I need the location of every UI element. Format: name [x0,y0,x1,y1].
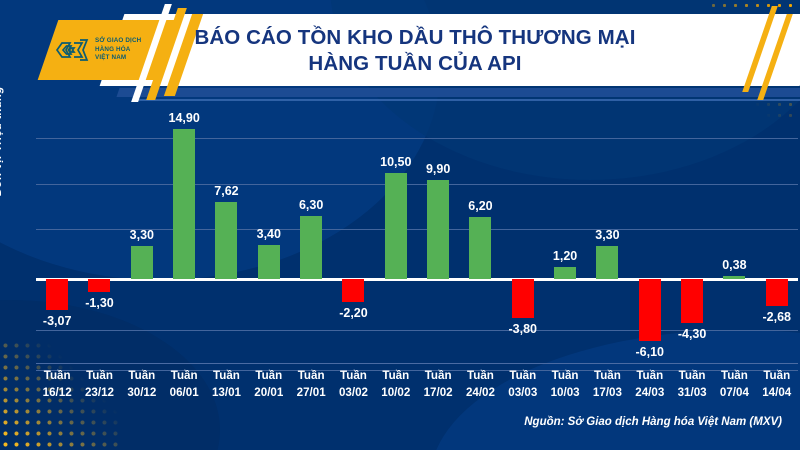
x-axis-tick: Tuần07/04 [713,368,755,412]
bar-chart: -3,07-1,303,3014,907,623,406,30-2,2010,5… [36,118,798,360]
bar-slot[interactable]: -6,10 [629,118,671,360]
bar-negative[interactable] [681,279,703,322]
bar-value-label: -6,10 [636,345,665,359]
bar-value-label: -1,30 [85,296,114,310]
bar-slot[interactable]: 9,90 [417,118,459,360]
x-axis-tick: Tuần13/01 [205,368,247,412]
bar-negative[interactable] [639,279,661,341]
bar-positive[interactable] [215,202,237,279]
x-axis-tick-date: 03/03 [502,385,544,402]
bar-positive[interactable] [173,129,195,279]
x-axis-tick-date: 03/02 [332,385,374,402]
x-axis-tick-prefix: Tuần [163,368,205,385]
infographic-root: SỞ GIAO DỊCH HÀNG HÓA VIỆT NAM BÁO CÁO T… [0,0,800,450]
bar-positive[interactable] [258,245,280,279]
bar-positive[interactable] [554,267,576,279]
source-note: Nguồn: Sở Giao dịch Hàng hóa Việt Nam (M… [524,416,782,428]
header-thin-rule [136,99,800,101]
bar-slot[interactable]: 1,20 [544,118,586,360]
bar-slot[interactable]: 14,90 [163,118,205,360]
x-axis-tick-date: 10/02 [375,385,417,402]
x-axis-tick-date: 30/12 [121,385,163,402]
bar-value-label: 6,20 [468,199,492,213]
bar-negative[interactable] [512,279,534,317]
header-banner: SỞ GIAO DỊCH HÀNG HÓA VIỆT NAM BÁO CÁO T… [0,0,800,106]
bar-value-label: 9,90 [426,162,450,176]
x-axis-tick-prefix: Tuần [205,368,247,385]
logo-text-line1: SỞ GIAO DỊCH [95,37,141,46]
x-axis-tick-prefix: Tuần [756,368,798,385]
x-axis-tick-prefix: Tuần [629,368,671,385]
bar-slot[interactable]: -2,68 [756,118,798,360]
page-title: BÁO CÁO TỒN KHO DẦU THÔ THƯƠNG MẠI HÀNG … [150,20,680,82]
x-axis-tick: Tuần16/12 [36,368,78,412]
bar-positive[interactable] [469,217,491,280]
x-axis-tick-date: 17/02 [417,385,459,402]
page-title-line1: BÁO CÁO TỒN KHO DẦU THÔ THƯƠNG MẠI [194,25,635,51]
bar-value-label: 3,30 [595,228,619,242]
bar-slot[interactable]: 3,30 [121,118,163,360]
x-axis-tick-prefix: Tuần [36,368,78,385]
bar-value-label: 1,20 [553,249,577,263]
bar-value-label: -4,30 [678,327,707,341]
y-axis-label: Đơn vị: Triệu thùng [0,86,4,196]
x-axis-tick: Tuần17/03 [586,368,628,412]
x-axis-tick-date: 14/04 [756,385,798,402]
bar-value-label: -2,20 [339,306,368,320]
bar-slot[interactable]: -1,30 [78,118,120,360]
x-axis-tick: Tuần03/03 [502,368,544,412]
x-axis-tick-date: 23/12 [78,385,120,402]
x-axis-tick-prefix: Tuần [121,368,163,385]
bar-value-label: -2,68 [762,310,791,324]
x-axis-tick-date: 24/02 [459,385,501,402]
x-axis-tick-prefix: Tuần [417,368,459,385]
x-axis-tick: Tuần06/01 [163,368,205,412]
x-axis-labels: Tuần16/12Tuần23/12Tuần30/12Tuần06/01Tuần… [36,368,798,412]
bar-slot[interactable]: 7,62 [205,118,247,360]
bar-positive[interactable] [300,216,322,280]
x-axis-tick: Tuần20/01 [248,368,290,412]
x-axis-tick: Tuần10/03 [544,368,586,412]
x-axis-tick-date: 31/03 [671,385,713,402]
bar-value-label: 3,30 [130,228,154,242]
x-axis-tick-date: 06/01 [163,385,205,402]
x-axis-tick: Tuần24/03 [629,368,671,412]
x-axis-tick: Tuần10/02 [375,368,417,412]
bar-positive[interactable] [385,173,407,279]
x-axis-tick-prefix: Tuần [290,368,332,385]
bar-negative[interactable] [342,279,364,301]
bar-value-label: 0,38 [722,258,746,272]
bar-slot[interactable]: -4,30 [671,118,713,360]
x-axis-tick-date: 10/03 [544,385,586,402]
x-axis-tick: Tuần31/03 [671,368,713,412]
bar-negative[interactable] [46,279,68,310]
bar-value-label: 7,62 [214,184,238,198]
logo-text: SỞ GIAO DỊCH HÀNG HÓA VIỆT NAM [95,37,141,64]
x-axis-tick-prefix: Tuần [332,368,374,385]
bar-slot[interactable]: -3,80 [502,118,544,360]
bar-value-label: 6,30 [299,198,323,212]
bar-value-label: -3,80 [509,322,538,336]
x-axis-tick-prefix: Tuần [671,368,713,385]
bar-slot[interactable]: 3,40 [248,118,290,360]
mxv-maze-logo-icon [54,33,90,67]
bar-slot[interactable]: 0,38 [713,118,755,360]
bar-value-label: 3,40 [257,227,281,241]
bar-group: -3,07-1,303,3014,907,623,406,30-2,2010,5… [36,118,798,360]
bar-slot[interactable]: -2,20 [332,118,374,360]
x-axis-tick-prefix: Tuần [78,368,120,385]
x-axis-tick-date: 20/01 [248,385,290,402]
x-axis-tick: Tuần24/02 [459,368,501,412]
x-axis-tick: Tuần17/02 [417,368,459,412]
bar-positive[interactable] [596,246,618,279]
bar-positive[interactable] [723,276,745,280]
bar-slot[interactable]: 10,50 [375,118,417,360]
header-blue-bar [116,88,800,97]
x-axis-tick-prefix: Tuần [375,368,417,385]
x-axis-tick-prefix: Tuần [713,368,755,385]
x-axis-tick-date: 16/12 [36,385,78,402]
x-axis-tick-date: 13/01 [205,385,247,402]
bar-value-label: 10,50 [380,155,411,169]
x-axis-tick-prefix: Tuần [544,368,586,385]
x-axis-tick: Tuần30/12 [121,368,163,412]
bar-slot[interactable]: -3,07 [36,118,78,360]
bar-positive[interactable] [131,246,153,279]
bar-negative[interactable] [88,279,110,292]
bar-negative[interactable] [766,279,788,306]
bar-positive[interactable] [427,180,449,280]
x-axis-tick: Tuần27/01 [290,368,332,412]
bar-slot[interactable]: 3,30 [586,118,628,360]
x-axis-tick-date: 07/04 [713,385,755,402]
bar-slot[interactable]: 6,20 [459,118,501,360]
x-axis-tick: Tuần14/04 [756,368,798,412]
x-axis-rule [36,363,798,364]
bar-slot[interactable]: 6,30 [290,118,332,360]
x-axis-tick-prefix: Tuần [459,368,501,385]
x-axis-tick-date: 27/01 [290,385,332,402]
x-axis-tick-prefix: Tuần [248,368,290,385]
x-axis-tick: Tuần23/12 [78,368,120,412]
x-axis-tick-prefix: Tuần [502,368,544,385]
bar-value-label: 14,90 [169,111,200,125]
page-title-line2: HÀNG TUẦN CỦA API [308,51,521,77]
x-axis-tick-prefix: Tuần [586,368,628,385]
bar-value-label: -3,07 [43,314,72,328]
x-axis-tick-date: 24/03 [629,385,671,402]
x-axis-tick: Tuần03/02 [332,368,374,412]
x-axis-tick-date: 17/03 [586,385,628,402]
logo-text-line3: VIỆT NAM [95,54,141,63]
